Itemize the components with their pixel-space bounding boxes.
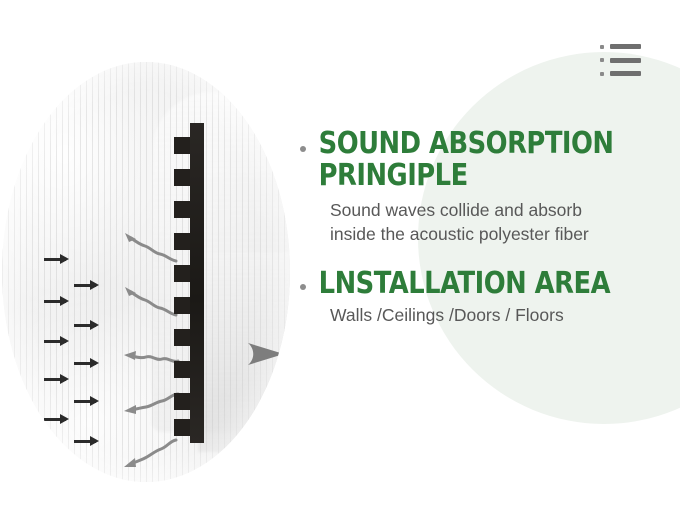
reflected-sound-wave-icon <box>120 340 182 376</box>
panel-tooth <box>174 419 190 436</box>
list-menu-row <box>600 58 644 63</box>
reflected-sound-wave-icon <box>120 434 182 470</box>
acoustic-panel-comb <box>190 123 204 443</box>
panel-tooth <box>174 297 190 314</box>
list-menu-row <box>600 44 644 49</box>
panel-tooth <box>174 233 190 250</box>
list-menu-row <box>600 71 644 76</box>
incoming-sound-arrow-icon <box>44 378 66 381</box>
list-menu-icon[interactable] <box>600 44 644 76</box>
content-block-sound-absorption: SOUND ABSORPTION PRINGIPLE Sound waves c… <box>298 128 670 246</box>
transmitted-sound-arrowhead-icon <box>246 338 286 370</box>
sound-absorption-diagram <box>2 62 290 482</box>
list-bar-icon <box>610 44 641 49</box>
page-title-sound-absorption: SOUND ABSORPTION PRINGIPLE <box>298 128 618 193</box>
reflected-sound-wave-icon <box>120 230 182 266</box>
list-bullet-dot-icon <box>600 45 604 49</box>
incoming-sound-arrow-icon <box>44 458 66 461</box>
slide-canvas: SOUND ABSORPTION PRINGIPLE Sound waves c… <box>0 0 680 522</box>
content-block-installation-area: LNSTALLATION AREA Walls /Ceilings /Doors… <box>298 268 670 327</box>
panel-tooth <box>174 329 190 346</box>
panel-tooth <box>174 361 190 378</box>
incoming-sound-arrow-icon <box>74 362 96 365</box>
incoming-sound-arrow-icon <box>44 340 66 343</box>
body-text-installation-area: Walls /Ceilings /Doors / Floors <box>298 304 670 328</box>
text-content-column: SOUND ABSORPTION PRINGIPLE Sound waves c… <box>298 128 670 328</box>
panel-tooth <box>174 201 190 218</box>
list-bar-icon <box>610 58 641 63</box>
incoming-sound-arrow-icon <box>74 440 96 443</box>
incoming-sound-arrow-icon <box>74 284 96 287</box>
page-title-installation-area: LNSTALLATION AREA <box>298 268 618 300</box>
reflected-sound-wave-icon <box>120 384 182 420</box>
panel-tooth <box>174 393 190 410</box>
incoming-sound-arrow-icon <box>44 258 66 261</box>
incoming-sound-arrow-icon <box>74 400 96 403</box>
list-bar-icon <box>610 71 641 76</box>
panel-tooth <box>174 265 190 282</box>
list-bullet-dot-icon <box>600 72 604 76</box>
incoming-sound-arrow-icon <box>74 324 96 327</box>
panel-tooth <box>174 169 190 186</box>
list-bullet-dot-icon <box>600 58 604 62</box>
panel-tooth <box>174 137 190 154</box>
incoming-sound-arrow-icon <box>44 300 66 303</box>
body-text-sound-absorption: Sound waves collide and absorb inside th… <box>298 199 670 247</box>
reflected-sound-wave-icon <box>120 284 182 320</box>
incoming-sound-arrow-icon <box>44 418 66 421</box>
